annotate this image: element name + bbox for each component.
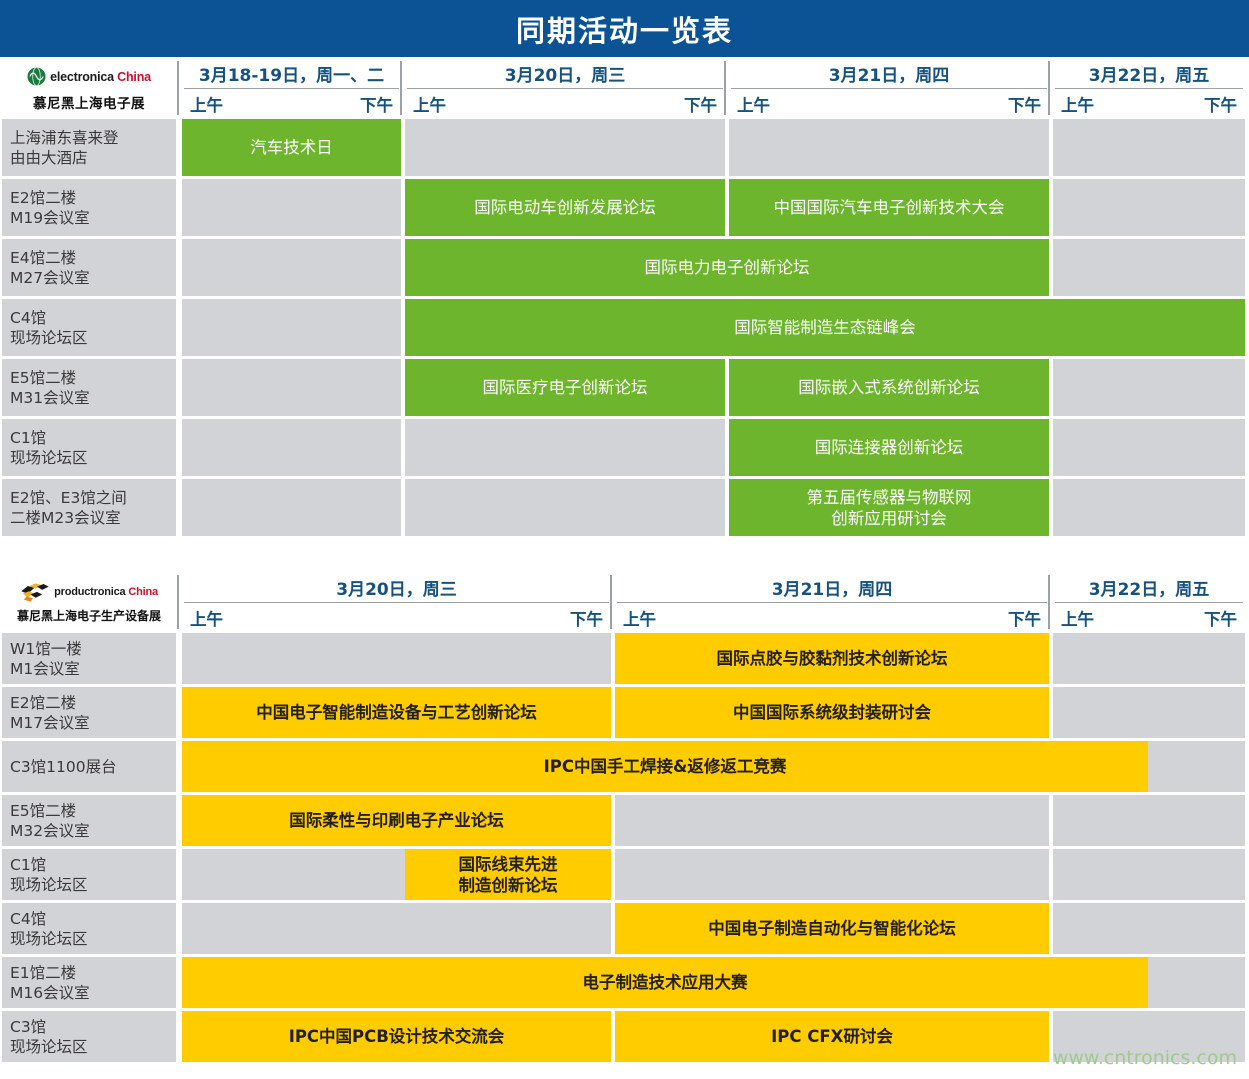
day-label: 3月20日，周三	[180, 573, 613, 601]
day-ampm: 上午下午	[613, 604, 1051, 632]
event-block[interactable]: IPC中国PCB设计技术交流会	[182, 1011, 611, 1062]
am-label: 上午	[190, 92, 223, 116]
empty-slot	[405, 119, 725, 176]
am-label: 上午	[623, 606, 656, 630]
am-label: 上午	[1061, 606, 1094, 630]
event-block[interactable]: 国际点胶与胶黏剂技术创新论坛	[615, 633, 1049, 684]
empty-slot	[1053, 239, 1245, 296]
event-title: 中国国际汽车电子创新技术大会	[774, 197, 1005, 218]
page-title: 同期活动一览表	[516, 8, 733, 50]
day-label: 3月18-19日，周一、二	[180, 59, 403, 87]
day-rule	[617, 602, 1047, 603]
event-block[interactable]: 国际电力电子创新论坛	[405, 239, 1049, 296]
venue-label: E5馆二楼M32会议室	[2, 795, 176, 846]
event-title: IPC CFX研讨会	[771, 1026, 893, 1047]
event-block[interactable]: 国际线束先进 制造创新论坛	[405, 849, 611, 900]
event-block[interactable]: 中国国际系统级封装研讨会	[615, 687, 1049, 738]
empty-slot	[615, 849, 1049, 900]
day-divider	[177, 575, 179, 629]
watermark: www.cntronics.com	[1053, 1047, 1237, 1069]
globe-icon	[27, 67, 46, 86]
day-ampm: 上午下午	[1051, 90, 1247, 118]
logo-brand-text: electronica China	[50, 70, 151, 84]
event-title: IPC中国手工焊接&返修返工竞赛	[544, 756, 787, 777]
event-title: 国际智能制造生态链峰会	[734, 317, 916, 338]
venue-line: E1馆二楼	[10, 963, 176, 983]
empty-slot	[182, 479, 401, 536]
day-rule	[184, 88, 399, 89]
venue-label: E2馆、E3馆之间二楼M23会议室	[2, 479, 176, 536]
venue-line: 现场论坛区	[10, 1037, 176, 1057]
venue-label: C3馆1100展台	[2, 741, 176, 792]
venue-line: E5馆二楼	[10, 801, 176, 821]
venue-label: C4馆现场论坛区	[2, 299, 176, 356]
venue-label: C4馆现场论坛区	[2, 903, 176, 954]
venue-label: E5馆二楼M31会议室	[2, 359, 176, 416]
event-block[interactable]: 电子制造技术应用大赛	[182, 957, 1148, 1008]
day-divider	[1048, 61, 1050, 115]
venue-line: M16会议室	[10, 983, 176, 1003]
am-label: 上午	[413, 92, 446, 116]
venue-label: 上海浦东喜来登由由大酒店	[2, 119, 176, 176]
empty-slot	[182, 359, 401, 416]
event-title: 国际柔性与印刷电子产业论坛	[289, 810, 504, 831]
event-title: 国际电力电子创新论坛	[645, 257, 810, 278]
table-header-electronica: electronica China 慕尼黑上海电子展 3月18-19日，周一、二…	[0, 57, 1249, 119]
pm-label: 下午	[570, 606, 603, 630]
empty-slot	[182, 633, 611, 684]
day-header: 3月22日，周五上午下午	[1051, 57, 1247, 119]
am-label: 上午	[737, 92, 770, 116]
day-divider	[177, 61, 179, 115]
pm-label: 下午	[684, 92, 717, 116]
venue-line: C3馆	[10, 1017, 176, 1037]
event-block[interactable]: 中国国际汽车电子创新技术大会	[729, 179, 1049, 236]
empty-slot	[1053, 479, 1245, 536]
venue-line: C4馆	[10, 909, 176, 929]
page-banner: 同期活动一览表	[0, 0, 1249, 57]
empty-slot	[405, 419, 725, 476]
day-ampm: 上午下午	[180, 90, 403, 118]
empty-slot	[1053, 359, 1245, 416]
event-title: 国际电动车创新发展论坛	[474, 197, 656, 218]
day-rule	[731, 88, 1047, 89]
event-block[interactable]: 第五届传感器与物联网 创新应用研讨会	[729, 479, 1049, 536]
day-label: 3月21日，周四	[613, 573, 1051, 601]
empty-slot	[1053, 633, 1245, 684]
event-title: 第五届传感器与物联网 创新应用研讨会	[807, 487, 972, 529]
venue-label: E1馆二楼M16会议室	[2, 957, 176, 1008]
event-title: 中国电子智能制造设备与工艺创新论坛	[256, 702, 537, 723]
logo-electronica: electronica China 慕尼黑上海电子展	[0, 57, 178, 119]
day-label: 3月21日，周四	[727, 59, 1051, 87]
venue-line: 现场论坛区	[10, 448, 176, 468]
day-header: 3月18-19日，周一、二上午下午	[180, 57, 403, 119]
day-header: 3月21日，周四上午下午	[613, 571, 1051, 633]
day-header: 3月22日，周五上午下午	[1051, 571, 1247, 633]
day-ampm: 上午下午	[1051, 604, 1247, 632]
event-block[interactable]: 国际连接器创新论坛	[729, 419, 1049, 476]
empty-slot	[182, 179, 401, 236]
day-rule	[1055, 88, 1243, 89]
event-block[interactable]: IPC中国手工焊接&返修返工竞赛	[182, 741, 1148, 792]
venue-line: E5馆二楼	[10, 368, 176, 388]
venue-label: E2馆二楼M17会议室	[2, 687, 176, 738]
day-divider	[610, 575, 612, 629]
event-block[interactable]: 中国电子智能制造设备与工艺创新论坛	[182, 687, 611, 738]
venue-label: C1馆现场论坛区	[2, 419, 176, 476]
logo-subtitle: 慕尼黑上海电子展	[33, 92, 145, 112]
schedule-table-productronica: productronica China 慕尼黑上海电子生产设备展 3月20日，周…	[0, 571, 1249, 1065]
event-block[interactable]: IPC CFX研讨会	[615, 1011, 1049, 1062]
venue-line: 上海浦东喜来登	[10, 128, 176, 148]
empty-slot	[1053, 795, 1245, 846]
venue-label: E4馆二楼M27会议室	[2, 239, 176, 296]
venue-line: E2馆、E3馆之间	[10, 488, 176, 508]
venue-line: M31会议室	[10, 388, 176, 408]
logo-brand-text: productronica China	[54, 586, 158, 598]
day-label: 3月20日，周三	[403, 59, 727, 87]
day-ampm: 上午下午	[403, 90, 727, 118]
event-block[interactable]: 国际智能制造生态链峰会	[405, 299, 1245, 356]
venue-line: M32会议室	[10, 821, 176, 841]
empty-slot	[182, 419, 401, 476]
empty-slot	[1053, 687, 1245, 738]
event-title: 国际医疗电子创新论坛	[483, 377, 648, 398]
day-header: 3月20日，周三上午下午	[180, 571, 613, 633]
venue-line: 现场论坛区	[10, 328, 176, 348]
venue-label: C3馆现场论坛区	[2, 1011, 176, 1062]
venue-line: E2馆二楼	[10, 188, 176, 208]
empty-slot	[615, 795, 1049, 846]
empty-slot	[405, 479, 725, 536]
event-title: 中国电子制造自动化与智能化论坛	[708, 918, 956, 939]
venue-line: C1馆	[10, 855, 176, 875]
event-block[interactable]: 国际医疗电子创新论坛	[405, 359, 725, 416]
empty-slot	[1053, 119, 1245, 176]
venue-line: C4馆	[10, 308, 176, 328]
pm-label: 下午	[1204, 606, 1237, 630]
venue-line: 现场论坛区	[10, 875, 176, 895]
event-title: 电子制造技术应用大赛	[583, 972, 748, 993]
venue-line: M19会议室	[10, 208, 176, 228]
event-title: 汽车技术日	[250, 137, 333, 158]
venue-line: E2馆二楼	[10, 693, 176, 713]
tiles-icon	[20, 582, 50, 603]
venue-label: E2馆二楼M19会议室	[2, 179, 176, 236]
day-header: 3月21日，周四上午下午	[727, 57, 1051, 119]
logo-subtitle: 慕尼黑上海电子生产设备展	[17, 607, 161, 624]
event-title: IPC中国PCB设计技术交流会	[289, 1026, 505, 1047]
table-header-productronica: productronica China 慕尼黑上海电子生产设备展 3月20日，周…	[0, 571, 1249, 633]
am-label: 上午	[1061, 92, 1094, 116]
day-divider	[724, 61, 726, 115]
empty-slot	[1053, 849, 1245, 900]
venue-line: M17会议室	[10, 713, 176, 733]
event-title: 国际点胶与胶黏剂技术创新论坛	[717, 648, 948, 669]
event-block[interactable]: 国际嵌入式系统创新论坛	[729, 359, 1049, 416]
venue-line: 现场论坛区	[10, 929, 176, 949]
empty-slot	[1053, 903, 1245, 954]
am-label: 上午	[190, 606, 223, 630]
event-block[interactable]: 中国电子制造自动化与智能化论坛	[615, 903, 1049, 954]
event-block[interactable]: 国际柔性与印刷电子产业论坛	[182, 795, 611, 846]
empty-slot	[729, 119, 1049, 176]
day-ampm: 上午下午	[727, 90, 1051, 118]
venue-line: E4馆二楼	[10, 248, 176, 268]
day-ampm: 上午下午	[180, 604, 613, 632]
pm-label: 下午	[1008, 92, 1041, 116]
empty-slot	[1053, 179, 1245, 236]
schedule-page: 同期活动一览表 electronica China 慕尼黑上海电子展 3月18-…	[0, 0, 1249, 1079]
venue-label: W1馆一楼M1会议室	[2, 633, 176, 684]
day-label: 3月22日，周五	[1051, 59, 1247, 87]
day-header: 3月20日，周三上午下午	[403, 57, 727, 119]
day-divider	[1048, 575, 1050, 629]
venue-label: C1馆现场论坛区	[2, 849, 176, 900]
event-title: 中国国际系统级封装研讨会	[733, 702, 931, 723]
venue-line: 由由大酒店	[10, 148, 176, 168]
day-divider	[400, 61, 402, 115]
logo-productronica: productronica China 慕尼黑上海电子生产设备展	[0, 571, 178, 633]
venue-line: 二楼M23会议室	[10, 508, 176, 528]
table-body-electronica: 上海浦东喜来登由由大酒店汽车技术日E2馆二楼M19会议室国际电动车创新发展论坛中…	[0, 119, 1249, 539]
pm-label: 下午	[1204, 92, 1237, 116]
venue-line: C1馆	[10, 428, 176, 448]
empty-slot	[182, 239, 401, 296]
empty-slot	[1053, 419, 1245, 476]
pm-label: 下午	[360, 92, 393, 116]
day-rule	[407, 88, 723, 89]
day-label: 3月22日，周五	[1051, 573, 1247, 601]
empty-slot	[182, 903, 611, 954]
event-title: 国际线束先进 制造创新论坛	[459, 854, 558, 896]
venue-line: M27会议室	[10, 268, 176, 288]
event-block[interactable]: 国际电动车创新发展论坛	[405, 179, 725, 236]
schedule-table-electronica: electronica China 慕尼黑上海电子展 3月18-19日，周一、二…	[0, 57, 1249, 539]
venue-line: W1馆一楼	[10, 639, 176, 659]
event-title: 国际连接器创新论坛	[815, 437, 964, 458]
venue-line: C3馆1100展台	[10, 757, 176, 777]
day-rule	[1055, 602, 1243, 603]
venue-line: M1会议室	[10, 659, 176, 679]
pm-label: 下午	[1008, 606, 1041, 630]
empty-slot	[182, 299, 401, 356]
day-rule	[184, 602, 609, 603]
event-block[interactable]: 汽车技术日	[182, 119, 401, 176]
table-body-productronica: W1馆一楼M1会议室国际点胶与胶黏剂技术创新论坛E2馆二楼M17会议室中国电子智…	[0, 633, 1249, 1065]
event-title: 国际嵌入式系统创新论坛	[798, 377, 980, 398]
